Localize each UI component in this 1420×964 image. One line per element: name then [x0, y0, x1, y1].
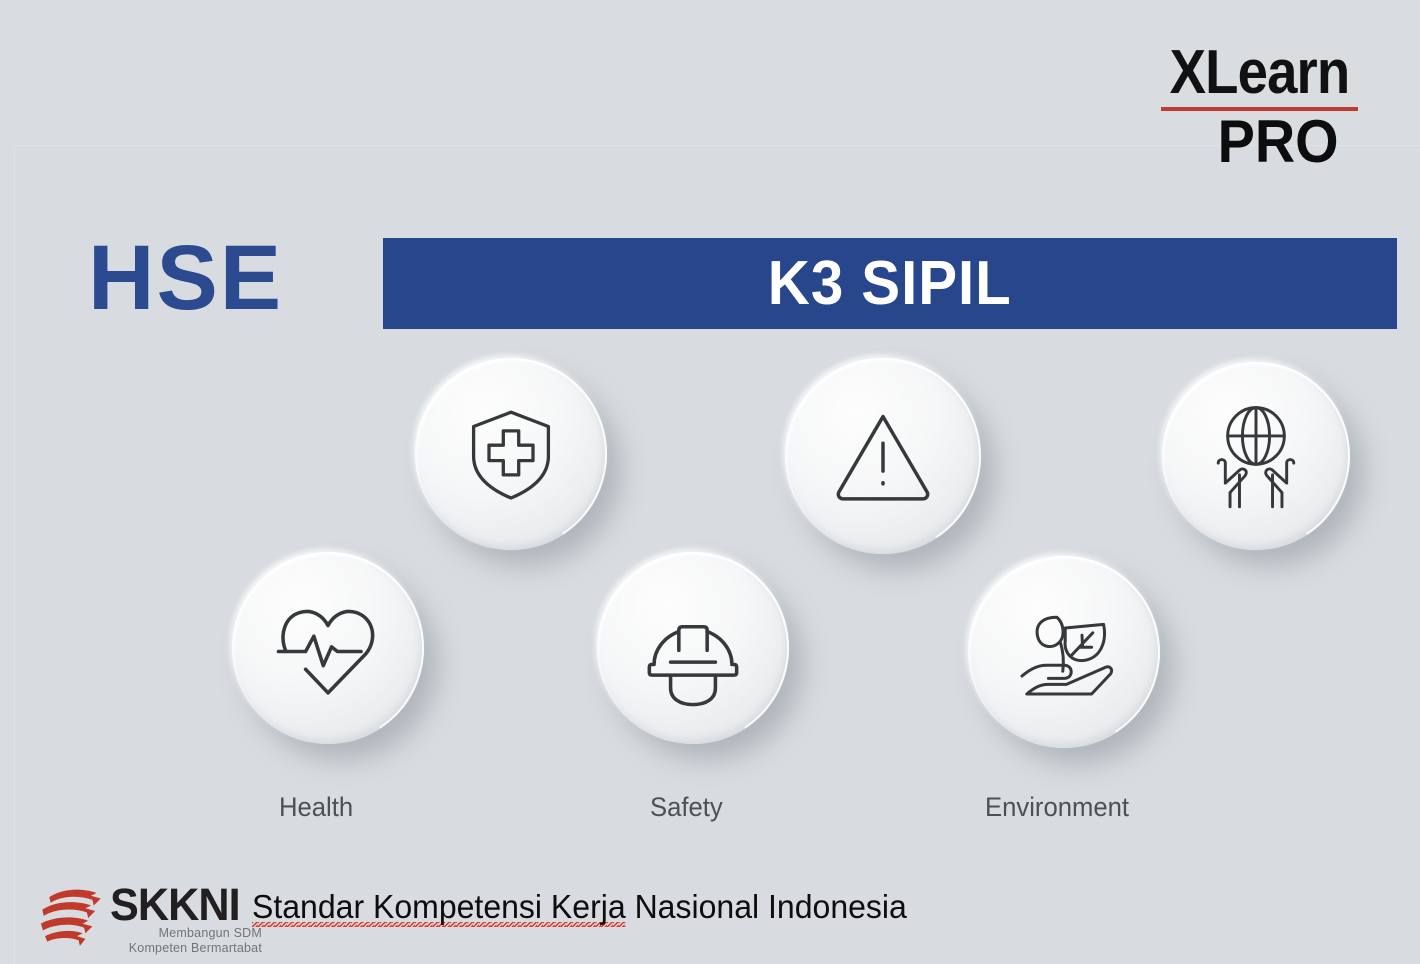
footer-caption-rest: Nasional Indonesia — [626, 888, 907, 925]
title-banner: K3 SIPIL — [383, 238, 1397, 329]
brand-name-top: XLearn — [1165, 44, 1354, 103]
skkni-logo: SKKNI Membangun SDM Kompeten Bermartabat — [36, 882, 258, 958]
icon-circle-environment-globe[interactable] — [1162, 362, 1350, 550]
skkni-wordmark: SKKNI — [110, 882, 240, 927]
slide-canvas: XLearn PRO HSE K3 SIPIL — [0, 0, 1420, 964]
footer: SKKNI Membangun SDM Kompeten Bermartabat… — [0, 876, 1420, 964]
heart-pulse-icon — [269, 589, 387, 707]
plant-in-hand-icon — [1004, 592, 1124, 712]
brand-name-bottom: PRO — [1160, 112, 1360, 172]
skkni-globe-swoosh-icon — [36, 886, 114, 950]
globe-in-hands-icon — [1197, 397, 1315, 515]
xlearn-pro-logo: XLearn PRO — [1152, 44, 1367, 184]
icon-circle-warning[interactable] — [785, 358, 981, 554]
shield-cross-icon — [456, 399, 566, 509]
page-title-prefix: HSE — [88, 228, 283, 328]
skkni-tagline-line1: Membangun SDM — [159, 926, 262, 940]
pillar-label-environment: Environment — [985, 792, 1129, 823]
icon-circle-health-heart[interactable] — [232, 552, 424, 744]
skkni-tagline-line2: Kompeten Bermartabat — [129, 941, 262, 955]
footer-caption-spellchecked: Standar Kompetensi Kerja — [252, 888, 626, 930]
footer-caption: Standar Kompetensi Kerja Nasional Indone… — [252, 888, 907, 926]
warning-triangle-icon — [825, 398, 941, 514]
page-title: K3 SIPIL — [768, 248, 1012, 319]
skkni-tagline: Membangun SDM Kompeten Bermartabat — [122, 926, 262, 956]
icon-circle-safety-helmet[interactable] — [597, 552, 789, 744]
pillar-label-safety: Safety — [650, 792, 723, 823]
icon-circle-environment-plant[interactable] — [968, 556, 1160, 748]
icon-circle-shield[interactable] — [415, 358, 607, 550]
pillar-label-health: Health — [279, 792, 353, 823]
safety-helmet-icon — [634, 589, 752, 707]
